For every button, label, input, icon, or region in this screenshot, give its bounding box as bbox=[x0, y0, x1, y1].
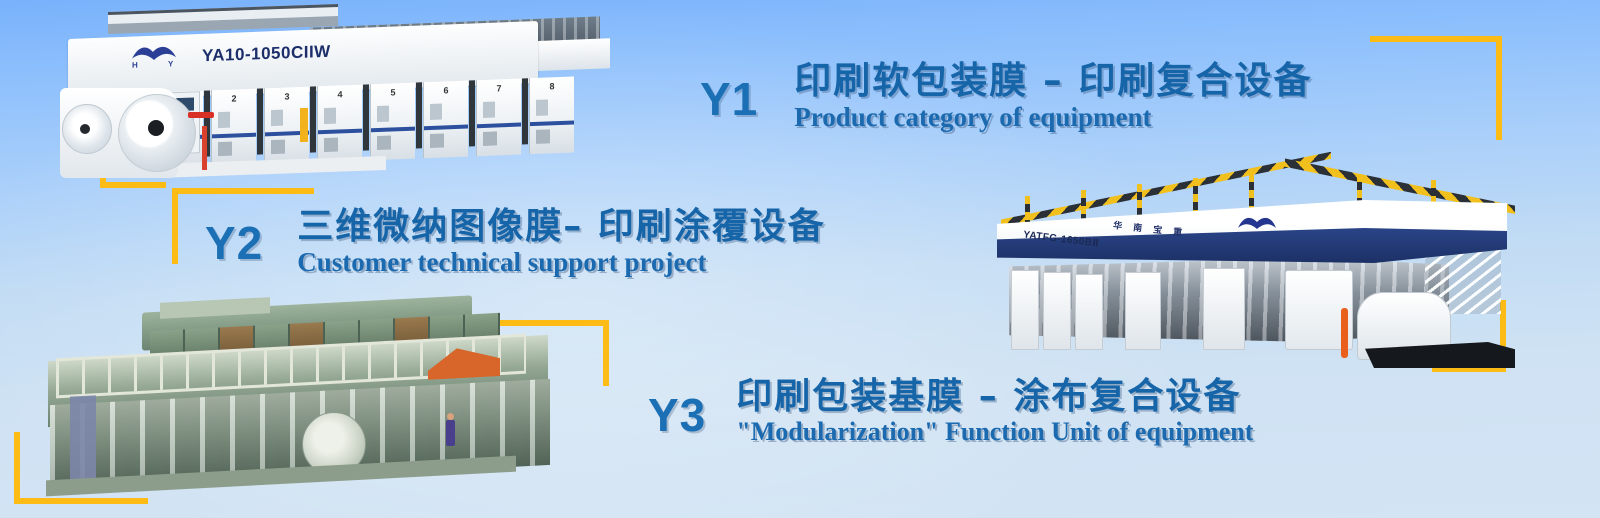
entry-y1: Y1 印刷软包装膜 – 印刷复合设备 Product category of e… bbox=[700, 62, 1313, 131]
svg-text:H: H bbox=[132, 61, 138, 69]
bracket-bottom-left-vertical bbox=[14, 432, 20, 504]
print-unit: 2 bbox=[211, 89, 256, 167]
entry-y2-code: Y2 bbox=[205, 220, 263, 266]
bracket-y2-top-horizontal bbox=[172, 188, 314, 194]
entry-y3-code: Y3 bbox=[648, 392, 706, 438]
press-red-handle bbox=[188, 112, 214, 118]
entry-y3: Y3 印刷包装基膜 – 涂布复合设备 "Modularization" Func… bbox=[648, 378, 1253, 445]
svg-text:Y: Y bbox=[168, 59, 174, 68]
print-unit: 4 bbox=[317, 85, 362, 163]
machine-coating-laminator: YATFG-1650BⅡ 华 南 宝 重 bbox=[985, 166, 1525, 376]
entry-y2-title-cn: 三维微纳图像膜– 印刷涂覆设备 bbox=[297, 208, 826, 246]
laminator-brand-logo-icon bbox=[1235, 214, 1279, 234]
entry-y1-code: Y1 bbox=[700, 76, 758, 122]
bracket-y2-left-horizontal bbox=[100, 182, 166, 188]
laminator-frame-column bbox=[1043, 272, 1071, 350]
press-roll-hub-secondary bbox=[80, 124, 90, 134]
operator-figure bbox=[446, 420, 455, 446]
laminator-frame-column bbox=[1203, 268, 1245, 350]
bracket-bottom-left-horizontal bbox=[14, 498, 148, 504]
laminator-frame-column bbox=[1125, 272, 1161, 350]
entry-y3-subtitle-en: "Modularization" Function Unit of equipm… bbox=[736, 418, 1253, 445]
entry-y2: Y2 三维微纳图像膜– 印刷涂覆设备 Customer technical su… bbox=[205, 208, 826, 276]
entry-y1-title-cn: 印刷软包装膜 – 印刷复合设备 bbox=[794, 62, 1312, 101]
print-unit: 6 bbox=[423, 81, 468, 159]
bracket-y3-right-vertical bbox=[603, 320, 609, 386]
press-yellow-marker bbox=[300, 108, 308, 142]
film-line-blue-web bbox=[70, 395, 96, 482]
entry-y3-title-cn: 印刷包装基膜 – 涂布复合设备 bbox=[736, 378, 1253, 416]
hy-brand-logo-icon: H Y bbox=[128, 41, 180, 69]
laminator-orange-hose bbox=[1341, 308, 1348, 358]
machine-base-film-line bbox=[30, 300, 575, 486]
bracket-y1-top-horizontal bbox=[1370, 36, 1502, 42]
bracket-y1-right-vertical bbox=[1496, 36, 1502, 140]
print-unit: 7 bbox=[476, 79, 521, 157]
entry-y1-subtitle-en: Product category of equipment bbox=[794, 103, 1312, 131]
print-unit: 5 bbox=[370, 83, 415, 161]
machine-printing-press: H Y YA10-1050CIIW 1 2 3 4 5 6 7 8 bbox=[60, 8, 600, 178]
promo-banner: H Y YA10-1050CIIW 1 2 3 4 5 6 7 8 bbox=[0, 0, 1600, 518]
print-unit: 8 bbox=[529, 76, 574, 154]
press-roll-hub bbox=[148, 120, 164, 136]
press-red-post bbox=[202, 126, 207, 170]
entry-y2-subtitle-en: Customer technical support project bbox=[297, 248, 826, 276]
laminator-frame-column bbox=[1075, 274, 1103, 350]
laminator-frame-column bbox=[1011, 270, 1039, 350]
bracket-y2-down-vertical bbox=[172, 188, 178, 264]
